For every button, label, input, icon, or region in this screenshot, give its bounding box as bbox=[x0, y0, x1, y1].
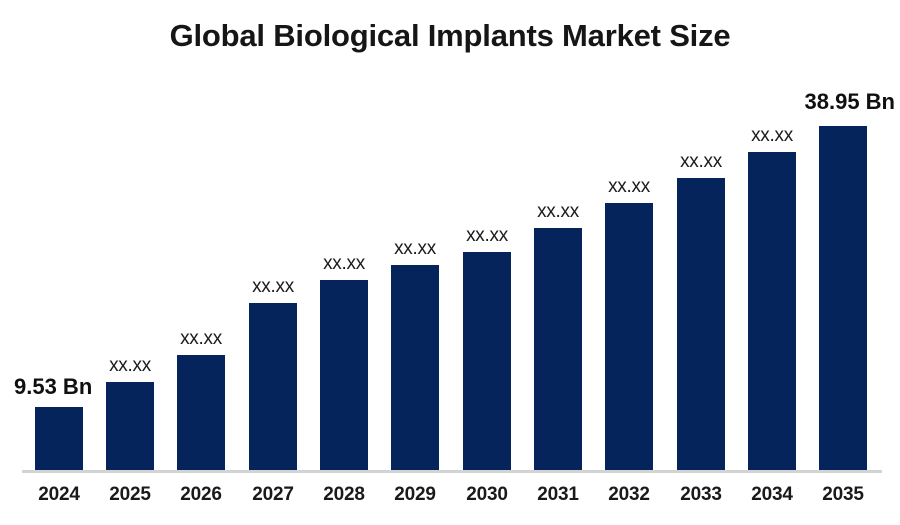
bar-label-2032: xx.xx bbox=[591, 176, 667, 198]
bar-label-2035: 38.95 Bn bbox=[765, 89, 895, 115]
x-tick-2026: 2026 bbox=[163, 484, 239, 506]
bar-2028[interactable] bbox=[320, 280, 368, 470]
bar-label-2024: 9.53 Bn bbox=[14, 374, 114, 400]
bar-label-2026: xx.xx bbox=[163, 328, 239, 350]
bar-2030[interactable] bbox=[463, 252, 511, 470]
bar-label-2027: xx.xx bbox=[235, 276, 311, 298]
bar-2024[interactable] bbox=[35, 407, 83, 470]
x-tick-2028: 2028 bbox=[306, 484, 382, 506]
bar-label-2033: xx.xx bbox=[663, 151, 739, 173]
bar-2031[interactable] bbox=[534, 228, 582, 470]
x-tick-2029: 2029 bbox=[377, 484, 453, 506]
bar-2025[interactable] bbox=[106, 382, 154, 470]
bar-2027[interactable] bbox=[249, 303, 297, 470]
x-axis-baseline bbox=[22, 470, 882, 473]
bar-2035[interactable] bbox=[819, 126, 867, 470]
bar-label-2030: xx.xx bbox=[449, 225, 525, 247]
bar-2032[interactable] bbox=[605, 203, 653, 470]
x-tick-2032: 2032 bbox=[591, 484, 667, 506]
x-tick-2024: 2024 bbox=[21, 484, 97, 506]
plot-area: 9.53 Bn 2024 xx.xx 2025 xx.xx 2026 xx.xx… bbox=[0, 0, 900, 525]
x-tick-2027: 2027 bbox=[235, 484, 311, 506]
x-tick-2033: 2033 bbox=[663, 484, 739, 506]
x-tick-2030: 2030 bbox=[449, 484, 525, 506]
x-tick-2031: 2031 bbox=[520, 484, 596, 506]
bar-2033[interactable] bbox=[677, 178, 725, 470]
bar-2026[interactable] bbox=[177, 355, 225, 470]
bar-label-2029: xx.xx bbox=[377, 238, 453, 260]
chart-container: Global Biological Implants Market Size 9… bbox=[0, 0, 900, 525]
bar-label-2034: xx.xx bbox=[734, 125, 810, 147]
x-tick-2025: 2025 bbox=[92, 484, 168, 506]
bar-2034[interactable] bbox=[748, 152, 796, 470]
x-tick-2034: 2034 bbox=[734, 484, 810, 506]
bar-2029[interactable] bbox=[391, 265, 439, 470]
bar-label-2028: xx.xx bbox=[306, 253, 382, 275]
bar-label-2031: xx.xx bbox=[520, 201, 596, 223]
bar-label-2025: xx.xx bbox=[92, 355, 168, 377]
x-tick-2035: 2035 bbox=[805, 484, 881, 506]
